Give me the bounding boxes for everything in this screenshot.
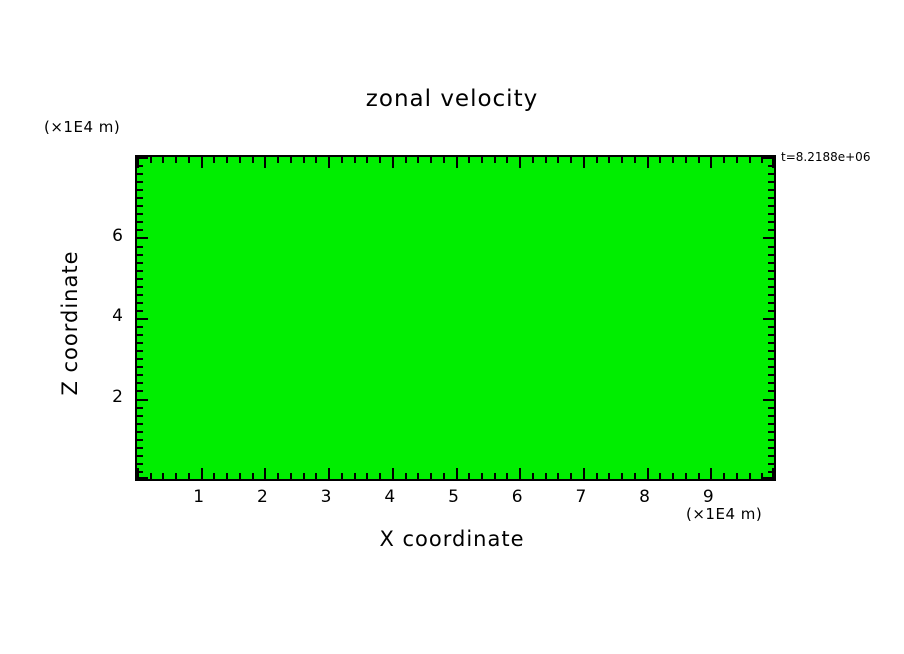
y-tick-left <box>137 358 143 360</box>
plot-area <box>135 155 776 481</box>
y-tick-right <box>768 326 774 328</box>
x-tick-bottom <box>328 468 330 479</box>
y-tick-left <box>137 471 143 473</box>
x-tick-bottom <box>277 473 279 479</box>
y-tick-left <box>137 254 143 256</box>
x-tick-top <box>252 157 254 163</box>
x-tick-bottom <box>366 473 368 479</box>
x-tick-bottom <box>150 473 152 479</box>
x-tick-top <box>723 157 725 163</box>
x-tick-top <box>456 157 458 168</box>
x-tick-label: 8 <box>625 487 665 507</box>
y-tick-right <box>768 366 774 368</box>
y-tick-left <box>137 382 143 384</box>
y-tick-right <box>768 423 774 425</box>
y-tick-right <box>768 447 774 449</box>
x-tick-top <box>685 157 687 163</box>
x-tick-bottom <box>672 473 674 479</box>
x-tick-bottom <box>290 473 292 479</box>
y-tick-left <box>137 294 143 296</box>
x-tick-bottom <box>392 468 394 479</box>
x-tick-label: 4 <box>370 487 410 507</box>
x-tick-bottom <box>570 473 572 479</box>
y-tick-left <box>137 286 143 288</box>
y-tick-left <box>137 390 143 392</box>
x-tick-bottom <box>557 473 559 479</box>
x-tick-label: 2 <box>242 487 282 507</box>
y-tick-left <box>137 399 148 401</box>
x-tick-label: 7 <box>561 487 601 507</box>
x-tick-top <box>481 157 483 163</box>
y-tick-label: 2 <box>83 387 123 407</box>
y-tick-left <box>137 415 143 417</box>
x-tick-bottom <box>379 473 381 479</box>
x-tick-top <box>736 157 738 163</box>
colorbar <box>781 208 817 513</box>
x-tick-top <box>213 157 215 163</box>
y-tick-right <box>768 286 774 288</box>
x-tick-top <box>264 157 266 168</box>
x-tick-bottom <box>162 473 164 479</box>
x-tick-top <box>366 157 368 163</box>
y-tick-left <box>137 213 143 215</box>
x-tick-bottom <box>354 473 356 479</box>
y-tick-left <box>137 302 143 304</box>
y-tick-left <box>137 350 143 352</box>
time-annotation: t=8.2188e+06 <box>781 150 870 164</box>
x-tick-top <box>596 157 598 163</box>
x-tick-top <box>698 157 700 163</box>
x-tick-bottom <box>239 473 241 479</box>
x-tick-bottom <box>213 473 215 479</box>
y-tick-right <box>768 197 774 199</box>
y-tick-left <box>137 423 143 425</box>
x-tick-bottom <box>723 473 725 479</box>
x-tick-label: 6 <box>497 487 537 507</box>
x-tick-bottom <box>175 473 177 479</box>
y-tick-left <box>137 237 148 239</box>
y-tick-right <box>768 334 774 336</box>
x-tick-top <box>659 157 661 163</box>
y-tick-right <box>768 439 774 441</box>
x-tick-top <box>226 157 228 163</box>
y-tick-left <box>137 197 143 199</box>
y-tick-right <box>768 415 774 417</box>
x-tick-top <box>354 157 356 163</box>
x-tick-top <box>583 157 585 168</box>
y-tick-left <box>137 310 143 312</box>
x-tick-top <box>150 157 152 163</box>
x-tick-top <box>519 157 521 168</box>
x-tick-bottom <box>405 473 407 479</box>
x-tick-top <box>188 157 190 163</box>
y-tick-right <box>768 390 774 392</box>
y-tick-left <box>137 181 143 183</box>
x-tick-bottom <box>710 468 712 479</box>
x-tick-bottom <box>315 473 317 479</box>
x-tick-top <box>277 157 279 163</box>
x-tick-label: 5 <box>434 487 474 507</box>
y-tick-left <box>137 173 143 175</box>
y-tick-left <box>137 463 143 465</box>
x-tick-bottom <box>545 473 547 479</box>
y-tick-left <box>137 431 143 433</box>
y-tick-left <box>137 157 148 159</box>
y-tick-right <box>768 350 774 352</box>
x-tick-label: 3 <box>306 487 346 507</box>
y-tick-right <box>763 399 774 401</box>
y-tick-right <box>768 189 774 191</box>
x-tick-bottom <box>456 468 458 479</box>
y-tick-right <box>768 358 774 360</box>
x-tick-top <box>532 157 534 163</box>
y-tick-left <box>137 189 143 191</box>
x-tick-bottom <box>264 468 266 479</box>
y-tick-right <box>768 471 774 473</box>
x-tick-top <box>430 157 432 163</box>
y-tick-left <box>137 229 143 231</box>
y-tick-right <box>768 246 774 248</box>
y-tick-right <box>768 294 774 296</box>
chart-figure: zonal velocity (×1E4 m) (×1E4 m) X coord… <box>0 0 904 654</box>
x-tick-top <box>315 157 317 163</box>
x-tick-bottom <box>226 473 228 479</box>
x-tick-bottom <box>659 473 661 479</box>
y-tick-right <box>763 237 774 239</box>
y-tick-left <box>137 278 143 280</box>
y-tick-label: 4 <box>83 306 123 326</box>
x-tick-bottom <box>201 468 203 479</box>
x-tick-top <box>201 157 203 168</box>
x-tick-bottom <box>596 473 598 479</box>
y-tick-right <box>768 302 774 304</box>
x-tick-top <box>341 157 343 163</box>
y-tick-left <box>137 334 143 336</box>
x-tick-bottom <box>621 473 623 479</box>
x-tick-bottom <box>634 473 636 479</box>
y-tick-right <box>768 213 774 215</box>
x-tick-bottom <box>685 473 687 479</box>
x-tick-top <box>443 157 445 163</box>
x-tick-top <box>392 157 394 168</box>
x-tick-top <box>494 157 496 163</box>
x-tick-top <box>175 157 177 163</box>
contour-field <box>137 157 774 479</box>
x-tick-top <box>303 157 305 163</box>
x-tick-top <box>239 157 241 163</box>
x-tick-top <box>162 157 164 163</box>
y-tick-right <box>768 382 774 384</box>
y-tick-right <box>768 310 774 312</box>
x-axis-unit-label: (×1E4 m) <box>686 505 762 523</box>
x-axis-title: X coordinate <box>0 527 904 551</box>
y-tick-left <box>137 366 143 368</box>
y-tick-left <box>137 270 143 272</box>
x-tick-top <box>468 157 470 163</box>
y-tick-right <box>768 278 774 280</box>
x-tick-bottom <box>417 473 419 479</box>
y-tick-left <box>137 221 143 223</box>
x-tick-top <box>545 157 547 163</box>
y-tick-right <box>768 262 774 264</box>
y-tick-right <box>768 165 774 167</box>
y-tick-left <box>137 455 143 457</box>
y-tick-right <box>768 173 774 175</box>
x-tick-bottom <box>519 468 521 479</box>
x-tick-top <box>570 157 572 163</box>
x-tick-top <box>328 157 330 168</box>
x-tick-top <box>557 157 559 163</box>
y-tick-right <box>768 270 774 272</box>
x-tick-top <box>647 157 649 168</box>
y-tick-left <box>137 374 143 376</box>
x-tick-top <box>417 157 419 163</box>
x-tick-bottom <box>188 473 190 479</box>
y-axis-title: Z coordinate <box>58 193 82 453</box>
y-tick-left <box>137 262 143 264</box>
x-tick-bottom <box>749 473 751 479</box>
x-tick-bottom <box>698 473 700 479</box>
x-tick-bottom <box>430 473 432 479</box>
x-tick-bottom <box>608 473 610 479</box>
x-tick-top <box>608 157 610 163</box>
y-tick-left <box>137 477 148 479</box>
x-tick-bottom <box>341 473 343 479</box>
x-tick-bottom <box>532 473 534 479</box>
x-tick-bottom <box>468 473 470 479</box>
x-tick-bottom <box>494 473 496 479</box>
x-tick-bottom <box>506 473 508 479</box>
y-tick-right <box>763 157 774 159</box>
x-tick-top <box>634 157 636 163</box>
y-tick-left <box>137 342 143 344</box>
y-tick-left <box>137 205 143 207</box>
x-tick-bottom <box>647 468 649 479</box>
y-tick-right <box>763 318 774 320</box>
y-tick-right <box>768 205 774 207</box>
y-tick-right <box>763 477 774 479</box>
y-tick-left <box>137 326 143 328</box>
y-tick-left <box>137 407 143 409</box>
y-tick-left <box>137 165 143 167</box>
x-tick-top <box>379 157 381 163</box>
y-tick-right <box>768 181 774 183</box>
y-tick-label: 6 <box>83 226 123 246</box>
y-tick-right <box>768 221 774 223</box>
x-tick-bottom <box>303 473 305 479</box>
x-tick-top <box>621 157 623 163</box>
x-tick-top <box>749 157 751 163</box>
y-tick-left <box>137 318 148 320</box>
y-tick-right <box>768 431 774 433</box>
y-tick-right <box>768 254 774 256</box>
x-tick-top <box>710 157 712 168</box>
y-tick-right <box>768 463 774 465</box>
y-axis-unit-label: (×1E4 m) <box>44 118 120 136</box>
x-tick-bottom <box>443 473 445 479</box>
x-tick-label: 1 <box>179 487 219 507</box>
y-tick-right <box>768 407 774 409</box>
y-tick-right <box>768 342 774 344</box>
y-tick-left <box>137 246 143 248</box>
x-tick-bottom <box>252 473 254 479</box>
x-tick-top <box>290 157 292 163</box>
y-tick-right <box>768 455 774 457</box>
y-tick-right <box>768 374 774 376</box>
y-tick-left <box>137 447 143 449</box>
x-tick-bottom <box>583 468 585 479</box>
y-tick-right <box>768 229 774 231</box>
y-tick-left <box>137 439 143 441</box>
page-title: zonal velocity <box>0 86 904 112</box>
x-tick-top <box>672 157 674 163</box>
x-tick-top <box>405 157 407 163</box>
x-tick-bottom <box>481 473 483 479</box>
x-tick-top <box>506 157 508 163</box>
x-tick-label: 9 <box>688 487 728 507</box>
x-tick-bottom <box>736 473 738 479</box>
